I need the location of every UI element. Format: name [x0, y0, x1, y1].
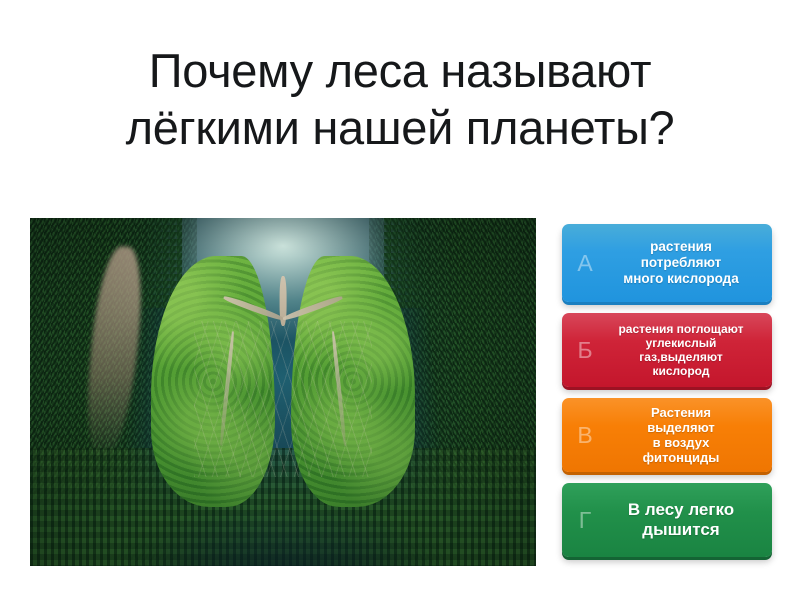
answer-text-a: растения потребляют много кислорода	[600, 239, 766, 286]
bronchiole-network	[194, 321, 373, 476]
page-title: Почему леса называют лёгкими нашей плане…	[0, 42, 800, 157]
answer-letter-d: Г	[570, 509, 600, 532]
answer-letter-c: В	[570, 424, 600, 447]
answer-option-a[interactable]: А растения потребляют много кислорода	[562, 224, 772, 302]
question-image	[30, 218, 536, 566]
answer-text-b: растения поглощают углекислый газ,выделя…	[600, 322, 766, 378]
quiz-slide: Почему леса называют лёгкими нашей плане…	[0, 0, 800, 600]
answer-letter-a: А	[570, 252, 600, 275]
answer-option-d[interactable]: Г В лесу легко дышится	[562, 483, 772, 557]
lungs-island	[151, 256, 414, 507]
answer-letter-b: Б	[570, 339, 600, 362]
answer-text-c: Растения выделяют в воздух фитонциды	[600, 405, 766, 466]
answer-option-b[interactable]: Б растения поглощают углекислый газ,выде…	[562, 313, 772, 387]
answer-option-c[interactable]: В Растения выделяют в воздух фитонциды	[562, 398, 772, 472]
answer-text-d: В лесу легко дышится	[600, 500, 766, 540]
answer-options-list: А растения потребляют много кислорода Б …	[562, 224, 772, 568]
forest-lungs-photo	[30, 218, 536, 566]
